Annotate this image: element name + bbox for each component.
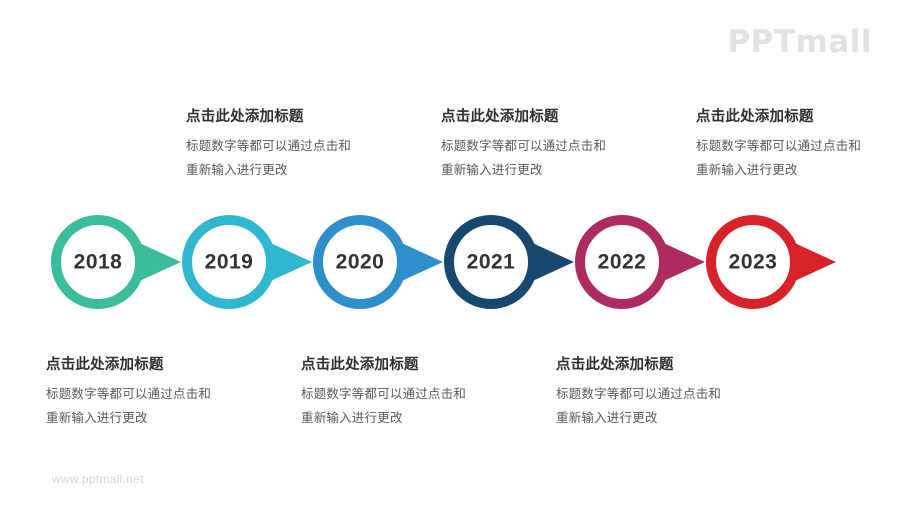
- year-label-2019: 2019: [205, 251, 254, 274]
- year-label-2023: 2023: [729, 251, 778, 274]
- timeline-node-2020[interactable]: 2020: [318, 219, 443, 305]
- text-block-line-1: 标题数字等都可以通过点击和: [186, 135, 401, 159]
- timeline-node-2023[interactable]: 2023: [711, 219, 836, 305]
- year-label-2020: 2020: [336, 251, 385, 274]
- footer-website-url: www.pptmall.net: [52, 472, 144, 486]
- text-block-line-2: 重新输入进行更改: [46, 407, 261, 431]
- text-block-line-1: 标题数字等都可以通过点击和: [696, 135, 900, 159]
- year-label-2022: 2022: [598, 251, 647, 274]
- timeline-node-2022[interactable]: 2022: [580, 219, 705, 305]
- text-block-line-2: 重新输入进行更改: [696, 159, 900, 183]
- text-block-line-1: 标题数字等都可以通过点击和: [556, 383, 771, 407]
- text-block-title: 点击此处添加标题: [441, 108, 656, 126]
- text-block-top-3[interactable]: 点击此处添加标题 标题数字等都可以通过点击和 重新输入进行更改: [696, 108, 900, 183]
- text-block-top-1[interactable]: 点击此处添加标题 标题数字等都可以通过点击和 重新输入进行更改: [186, 108, 401, 183]
- text-block-title: 点击此处添加标题: [301, 356, 516, 374]
- text-block-title: 点击此处添加标题: [46, 356, 261, 374]
- pptmall-logo: PPTmall: [727, 24, 872, 60]
- timeline-node-2021[interactable]: 2021: [449, 219, 574, 305]
- timeline-graphic: 2023 2022 2021 2020: [0, 205, 900, 320]
- timeline-svg: 2023 2022 2021 2020: [0, 205, 900, 320]
- text-block-line-2: 重新输入进行更改: [301, 407, 516, 431]
- text-block-title: 点击此处添加标题: [556, 356, 771, 374]
- slide-canvas: PPTmall 点击此处添加标题 标题数字等都可以通过点击和 重新输入进行更改 …: [0, 0, 900, 506]
- text-block-title: 点击此处添加标题: [186, 108, 401, 126]
- timeline-node-2018[interactable]: 2018: [56, 219, 181, 305]
- text-block-line-2: 重新输入进行更改: [441, 159, 656, 183]
- text-block-bottom-1[interactable]: 点击此处添加标题 标题数字等都可以通过点击和 重新输入进行更改: [46, 356, 261, 431]
- text-block-line-2: 重新输入进行更改: [186, 159, 401, 183]
- text-block-line-1: 标题数字等都可以通过点击和: [301, 383, 516, 407]
- year-label-2021: 2021: [467, 251, 516, 274]
- text-block-line-2: 重新输入进行更改: [556, 407, 771, 431]
- text-block-top-2[interactable]: 点击此处添加标题 标题数字等都可以通过点击和 重新输入进行更改: [441, 108, 656, 183]
- text-block-bottom-2[interactable]: 点击此处添加标题 标题数字等都可以通过点击和 重新输入进行更改: [301, 356, 516, 431]
- text-block-line-1: 标题数字等都可以通过点击和: [46, 383, 261, 407]
- year-label-2018: 2018: [74, 251, 123, 274]
- text-block-title: 点击此处添加标题: [696, 108, 900, 126]
- timeline-node-2019[interactable]: 2019: [187, 219, 312, 305]
- text-block-line-1: 标题数字等都可以通过点击和: [441, 135, 656, 159]
- text-block-bottom-3[interactable]: 点击此处添加标题 标题数字等都可以通过点击和 重新输入进行更改: [556, 356, 771, 431]
